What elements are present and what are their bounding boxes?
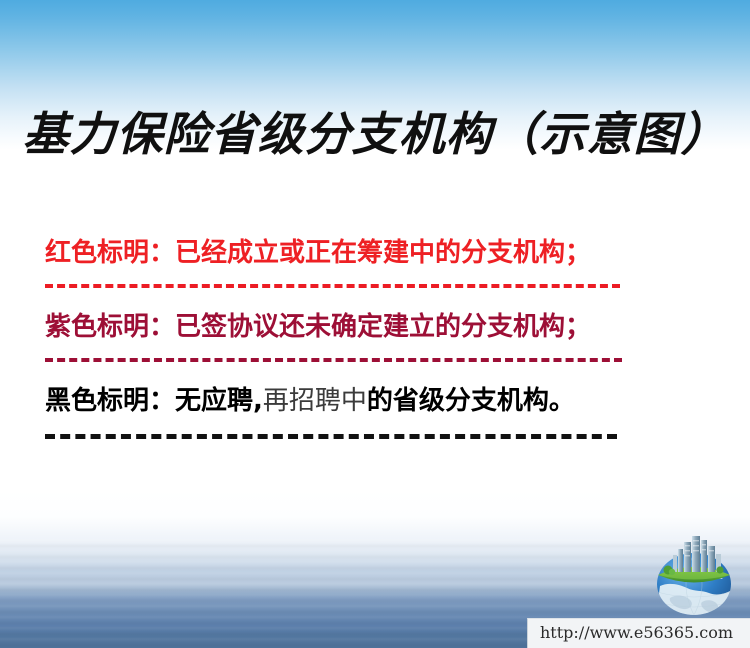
legend-row-black: 黑色标明：无应聘,再招聘中的省级分支机构。 [45,384,685,439]
slide-canvas: 基力保险省级分支机构（示意图） 红色标明：已经成立或正在筹建中的分支机构； 紫色… [0,0,750,648]
watermark-bar: http://www.e56365.com [527,618,750,648]
legend-row-purple: 紫色标明：已签协议还未确定建立的分支机构； [45,310,685,362]
watermark-url: http://www.e56365.com [528,619,750,642]
legend-text-red: 红色标明：已经成立或正在筹建中的分支机构； [45,236,685,270]
legend-text-black: 黑色标明：无应聘,再招聘中的省级分支机构。 [45,384,685,418]
legend-text-purple: 紫色标明：已签协议还未确定建立的分支机构； [45,310,685,344]
legend-label-black: 黑色标明： [45,386,175,416]
legend-desc-black-light: 再招聘中 [263,386,367,416]
legend-spacer-2 [45,362,685,384]
legend-desc-black-bold: 无应聘, [175,386,263,416]
legend-spacer-1 [45,288,685,310]
globe-city-logo-icon [646,524,742,620]
legend-divider-purple [45,358,622,362]
legend-desc-black-tail: 的省级分支机构。 [367,386,575,416]
legend-row-red: 红色标明：已经成立或正在筹建中的分支机构； [45,236,685,288]
page-title: 基力保险省级分支机构（示意图） [0,98,750,164]
legend-divider-black [45,434,617,439]
legend-divider-red [45,284,620,288]
legend-block: 红色标明：已经成立或正在筹建中的分支机构； 紫色标明：已签协议还未确定建立的分支… [45,236,685,439]
